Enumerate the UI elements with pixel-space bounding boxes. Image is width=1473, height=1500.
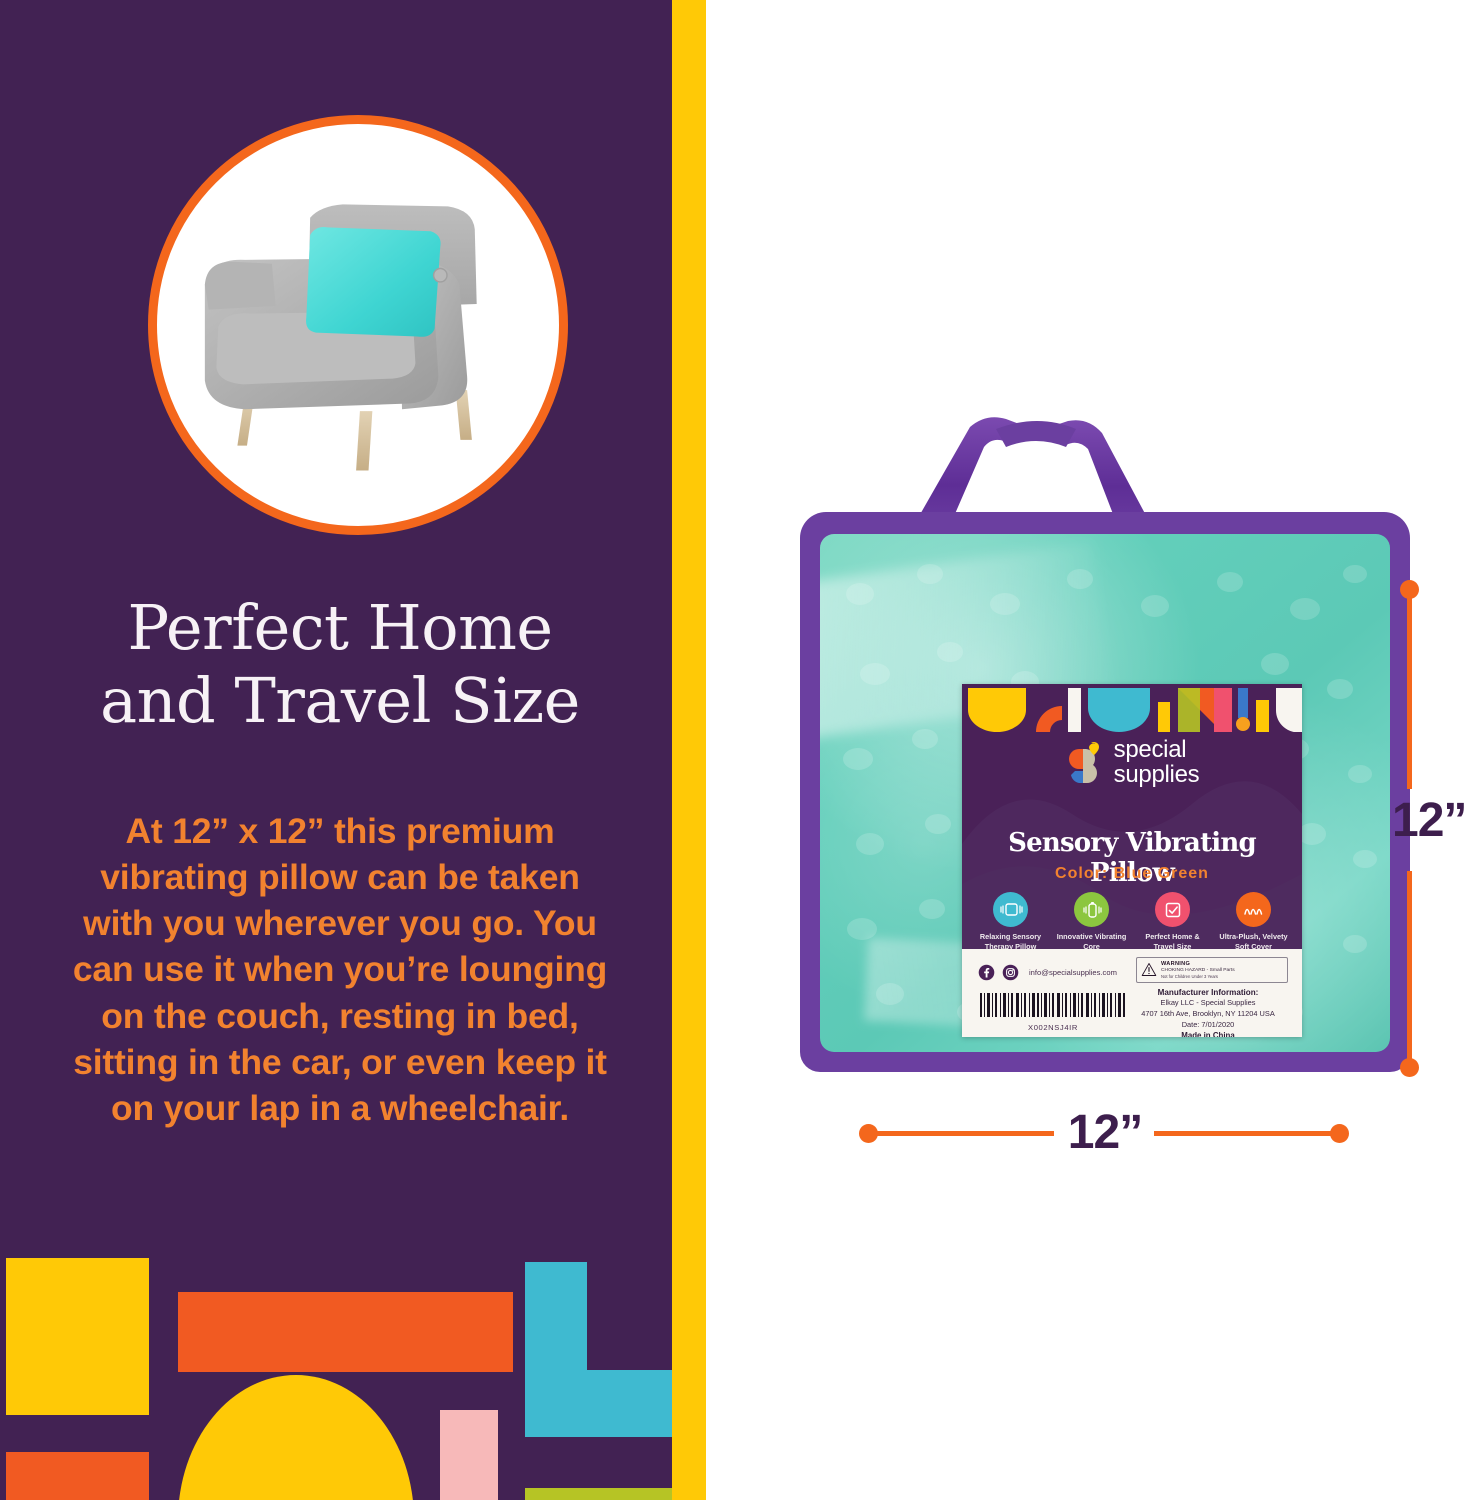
instagram-icon[interactable] (1002, 964, 1019, 981)
body-copy: At 12” x 12” this premium vibrating pill… (70, 808, 610, 1131)
horizontal-dimension-callout: 12” (854, 1105, 1354, 1165)
feature-label: Perfect Home & Travel Size (1135, 932, 1211, 949)
facebook-icon[interactable] (978, 964, 995, 981)
dimension-line (1407, 871, 1412, 1067)
product-photo-area: special supplies Sensory Vibrating Pillo… (706, 0, 1473, 1500)
label-purple-section: special supplies Sensory Vibrating Pillo… (962, 684, 1302, 949)
dimension-endpoint-dot (1330, 1124, 1349, 1143)
feature-label: Innovative Vibrating Core (1054, 932, 1130, 949)
checkbox-icon (1155, 892, 1190, 927)
hero-chair-image (148, 115, 568, 535)
manufacturer-block: Manufacturer Information: Elkay LLC - Sp… (1128, 987, 1288, 1037)
manufacturer-heading: Manufacturer Information: (1128, 987, 1288, 998)
brand-lockup: special supplies (962, 738, 1302, 788)
warning-text: WARNING CHOKING HAZARD - Small Parts Not… (1161, 961, 1235, 979)
warning-line-1: CHOKING HAZARD - Small Parts (1161, 968, 1235, 974)
warning-title: WARNING (1161, 961, 1235, 968)
social-row: info@specialsupplies.com (978, 964, 1117, 981)
feature-relaxing-sensory: Relaxing Sensory Therapy Pillow (973, 892, 1049, 949)
pillow-vibration-icon (993, 892, 1028, 927)
feature-label: Ultra-Plush, Velvety Soft Cover (1216, 932, 1292, 949)
product-label: special supplies Sensory Vibrating Pillo… (962, 684, 1302, 1037)
manufacturer-date: Date: 7/01/2020 (1128, 1020, 1288, 1031)
dimension-line (1154, 1131, 1340, 1136)
yellow-divider-stripe (672, 0, 706, 1500)
armchair-illustration (157, 124, 559, 526)
vertical-dimension-callout: 12” (1394, 575, 1464, 1080)
headline-line-2: and Travel Size (40, 665, 640, 738)
warning-box: WARNING CHOKING HAZARD - Small Parts Not… (1136, 957, 1288, 983)
brand-wordmark: special supplies (1114, 738, 1200, 788)
vertical-dimension-label: 12” (1392, 793, 1466, 848)
dimension-line (868, 1131, 1054, 1136)
plush-waves-icon (1236, 892, 1271, 927)
decorative-shapes-band (0, 1230, 672, 1500)
feature-icons-row: Relaxing Sensory Therapy Pillow (970, 892, 1294, 949)
barcode-number: X002NSJ4IR (978, 1023, 1128, 1032)
warning-line-2: Not for Children Under 3 Years (1161, 974, 1235, 979)
dimension-line (1407, 589, 1412, 789)
headline-line-1: Perfect Home (40, 592, 640, 665)
brand-line-1: special (1114, 738, 1200, 763)
manufacturer-origin: Made in China (1128, 1030, 1288, 1037)
manufacturer-company: Elkay LLC - Special Supplies (1128, 998, 1288, 1009)
pillow-package: special supplies Sensory Vibrating Pillo… (800, 512, 1410, 1072)
label-info-section: info@specialsupplies.com (962, 949, 1302, 1037)
feature-travel-size: Perfect Home & Travel Size (1135, 892, 1211, 949)
special-supplies-logo-icon (1065, 741, 1105, 785)
barcode-icon (978, 993, 1128, 1017)
contact-email: info@specialsupplies.com (1029, 968, 1117, 977)
barcode-block: X002NSJ4IR (978, 993, 1128, 1032)
horizontal-dimension-label: 12” (1050, 1105, 1160, 1160)
dimension-endpoint-dot (1400, 1058, 1419, 1077)
feature-soft-cover: Ultra-Plush, Velvety Soft Cover (1216, 892, 1292, 949)
vibrating-core-icon (1074, 892, 1109, 927)
feature-label: Relaxing Sensory Therapy Pillow (973, 932, 1049, 949)
manufacturer-address: 4707 16th Ave, Brooklyn, NY 11204 USA (1128, 1009, 1288, 1020)
brand-line-2: supplies (1114, 763, 1200, 788)
left-info-panel: Perfect Home and Travel Size At 12” x 12… (0, 0, 672, 1500)
product-color-line: Color: Blue Green (962, 865, 1302, 883)
headline: Perfect Home and Travel Size (40, 592, 640, 737)
warning-triangle-icon (1141, 962, 1157, 977)
feature-vibrating-core: Innovative Vibrating Core (1054, 892, 1130, 949)
bag-clear-window: special supplies Sensory Vibrating Pillo… (820, 534, 1390, 1052)
